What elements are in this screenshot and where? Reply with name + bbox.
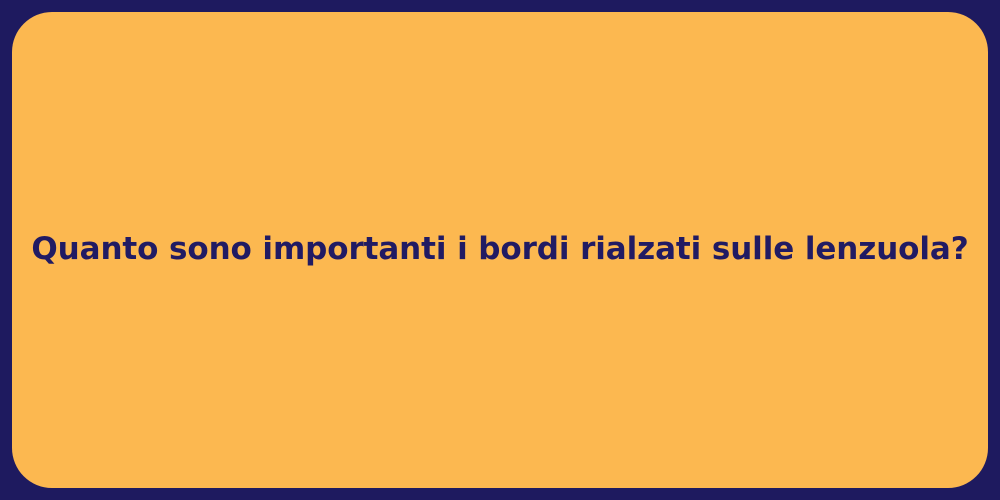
banner-card: Quanto sono importanti i bordi rialzati … <box>12 12 988 488</box>
headline-text: Quanto sono importanti i bordi rialzati … <box>31 230 968 269</box>
banner-frame: Quanto sono importanti i bordi rialzati … <box>0 0 1000 500</box>
